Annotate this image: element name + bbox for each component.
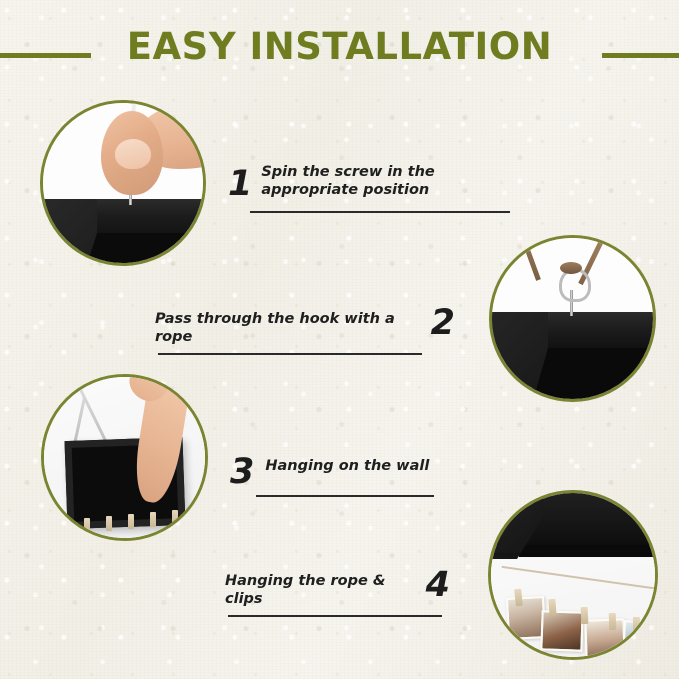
step-1-label: Spin the screw in the appropriate positi… (261, 163, 513, 199)
step-2-label: Pass through the hook with a rope (155, 310, 417, 346)
frame-drop-shadow (491, 553, 655, 558)
rope-and-clips-with-photos-photo (491, 493, 655, 657)
step-2-photo (489, 235, 656, 402)
wooden-clip-icon (62, 516, 68, 531)
hanging-frame-on-wall-photo (44, 377, 205, 538)
wooden-clip-icon (581, 607, 589, 624)
clipped-photo (540, 610, 583, 651)
page-title: EASY INSTALLATION (0, 25, 679, 68)
screw-eye-into-frame-photo (43, 103, 203, 263)
step-4-underline (228, 615, 442, 617)
frame-inner-panel (532, 348, 653, 399)
step-1-row: 1 Spin the screw in the appropriate posi… (228, 163, 518, 201)
step-3-row: 3 Hanging on the wall (230, 457, 450, 489)
thumbnail-shape (115, 139, 151, 169)
wooden-clip-icon (128, 514, 134, 529)
step-2: Pass through the hook with a rope 2 (155, 310, 455, 355)
step-4-number: 4 (426, 568, 450, 602)
photo-image (542, 612, 581, 649)
wooden-clip-icon (548, 599, 556, 616)
step-3-label: Hanging on the wall (265, 457, 429, 475)
photo-image (508, 598, 544, 638)
step-3-underline (256, 495, 434, 497)
step-3-photo (41, 374, 208, 541)
frame-corner-bevel (43, 199, 97, 263)
step-4-photo (488, 490, 658, 660)
step-1-number: 1 (228, 167, 252, 201)
clipped-photo (584, 618, 625, 657)
step-3-number: 3 (230, 455, 254, 489)
step-4: Hanging the rope & clips 4 (225, 572, 450, 617)
rope-through-hook-photo (492, 238, 653, 399)
wooden-clip-icon (172, 510, 178, 525)
wooden-clip-icon (106, 516, 112, 531)
step-3: 3 Hanging on the wall (230, 457, 450, 497)
wooden-clip-icon (609, 613, 617, 630)
step-4-label: Hanging the rope & clips (225, 572, 412, 608)
wooden-clip-icon (150, 512, 156, 527)
wooden-clip-icon (84, 518, 90, 533)
step-2-number: 2 (431, 306, 455, 340)
header-rule-right-icon (602, 53, 679, 58)
header: EASY INSTALLATION (0, 0, 679, 96)
step-1-underline (250, 211, 510, 213)
step-2-underline (158, 353, 422, 355)
wooden-clip-icon (633, 617, 640, 634)
step-4-row: Hanging the rope & clips 4 (225, 572, 450, 608)
rope-left-strand-icon (516, 238, 541, 281)
step-1-photo (40, 100, 206, 266)
photo-image (586, 620, 623, 657)
rope-knot-icon (560, 262, 582, 274)
step-2-row: Pass through the hook with a rope 2 (155, 310, 455, 346)
frame-inner-panel (79, 233, 203, 263)
step-1: 1 Spin the screw in the appropriate posi… (228, 163, 518, 213)
